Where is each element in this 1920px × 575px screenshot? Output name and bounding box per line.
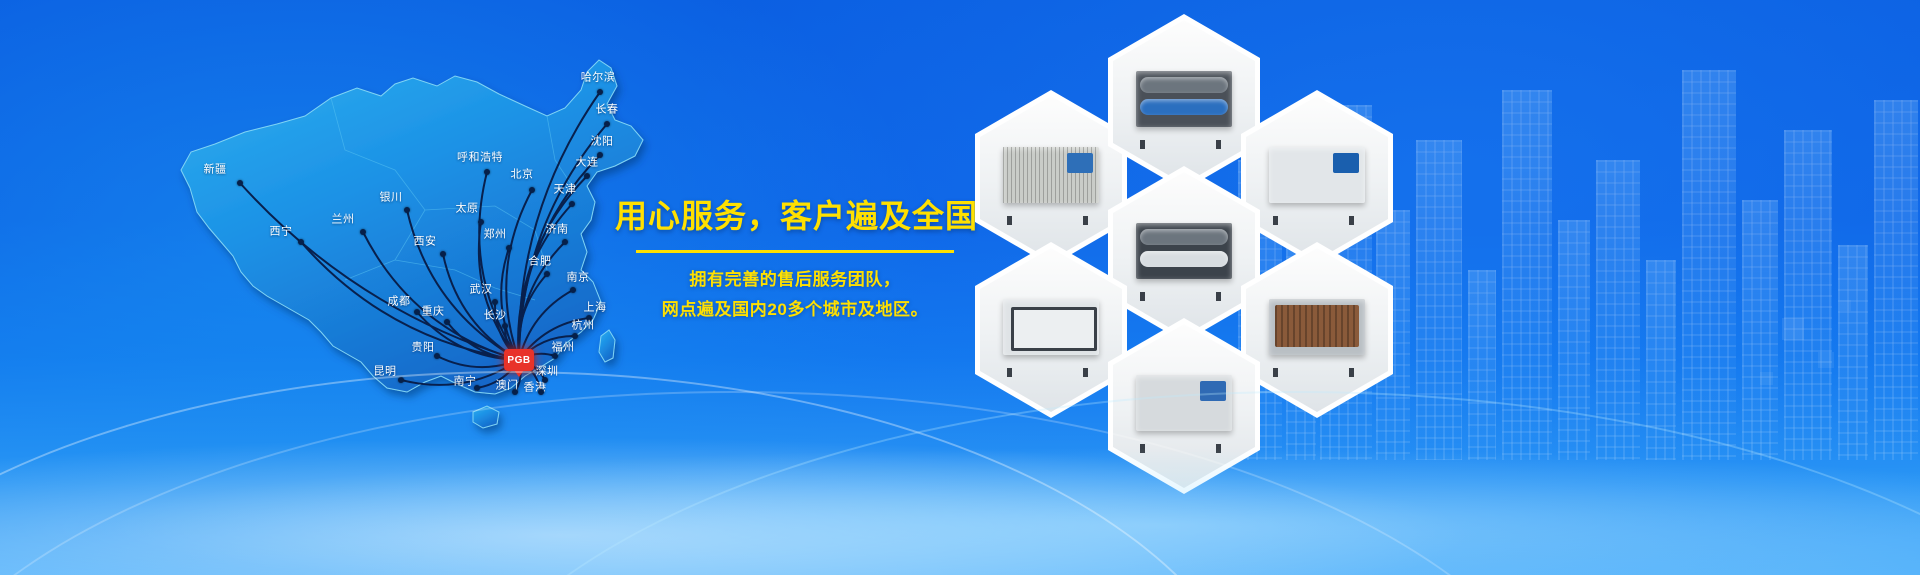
city-label-23: 重庆 [422, 307, 445, 318]
city-dot-13 [506, 245, 512, 251]
city-dot-0 [237, 180, 243, 186]
decor-square [1782, 318, 1804, 340]
city-label-13: 郑州 [484, 230, 507, 241]
city-dot-12 [440, 251, 446, 257]
city-label-15: 合肥 [529, 257, 552, 268]
headline-divider [636, 250, 954, 253]
product-photo-open-frame-chiller [980, 248, 1122, 412]
city-label-9: 沈阳 [591, 137, 614, 148]
machine-leg [1273, 368, 1278, 377]
machine-illustration [1263, 291, 1371, 369]
city-label-14: 济南 [546, 225, 569, 236]
city-label-18: 杭州 [572, 321, 595, 332]
product-hex-air-cooled-box-chiller[interactable] [975, 90, 1127, 266]
product-photo-condenser-coil-unit [1246, 248, 1388, 412]
city-label-1: 西宁 [270, 227, 293, 238]
product-hex-industrial-air-chiller[interactable] [1241, 90, 1393, 266]
city-dot-8 [604, 121, 610, 127]
skyline-building [1874, 100, 1918, 460]
machine-leg [1216, 140, 1221, 149]
product-photo-industrial-air-chiller [1246, 96, 1388, 260]
machine-leg [1083, 368, 1088, 377]
city-dot-16 [570, 287, 576, 293]
machine-leg [1140, 444, 1145, 453]
city-label-26: 南宁 [454, 377, 477, 388]
city-label-5: 北京 [511, 170, 534, 181]
product-hex-water-cooled-screw-chiller[interactable] [1108, 14, 1260, 190]
city-dot-28 [538, 389, 544, 395]
city-label-17: 上海 [584, 303, 607, 314]
city-dot-6 [569, 201, 575, 207]
city-label-21: 福州 [552, 343, 575, 354]
product-photo-air-cooled-box-chiller [980, 96, 1122, 260]
banner-subtitle-line1: 拥有完善的售后服务团队， [615, 265, 975, 295]
city-label-4: 呼和浩特 [457, 153, 503, 164]
city-label-10: 大连 [576, 158, 599, 169]
machine-illustration [997, 291, 1105, 369]
hub-marker-pgb[interactable]: PGB [504, 349, 534, 371]
decor-square [1760, 372, 1773, 385]
banner-copy: 用心服务，客户遍及全国 拥有完善的售后服务团队， 网点遍及国内20多个城市及地区… [615, 196, 975, 325]
city-dot-26 [474, 385, 480, 391]
city-label-16: 南京 [567, 273, 590, 284]
banner-subtitle-line2: 网点遍及国内20多个城市及地区。 [615, 295, 975, 325]
skyline-building [1742, 200, 1778, 460]
city-label-20: 长沙 [484, 311, 507, 322]
machine-leg [1007, 216, 1012, 225]
machine-illustration [1130, 215, 1238, 293]
city-label-6: 天津 [554, 185, 577, 196]
city-label-8: 长春 [596, 105, 619, 116]
map-landmass [181, 60, 643, 428]
skyline-building [1682, 70, 1736, 460]
machine-leg [1140, 292, 1145, 301]
city-label-29: 深圳 [536, 367, 559, 378]
city-dot-24 [434, 353, 440, 359]
city-dot-10 [584, 173, 590, 179]
skyline-building [1784, 130, 1832, 460]
machine-leg [1349, 368, 1354, 377]
city-label-25: 昆明 [374, 367, 397, 378]
machine-illustration [1263, 139, 1371, 217]
skyline-building [1596, 160, 1640, 460]
skyline-building [1646, 260, 1676, 460]
city-dot-5 [529, 187, 535, 193]
machine-illustration [997, 139, 1105, 217]
product-hex-cabinet-water-chiller[interactable] [1108, 318, 1260, 494]
city-dot-1 [298, 239, 304, 245]
city-dot-25 [398, 377, 404, 383]
city-dot-29 [542, 377, 548, 383]
skyline-building [1838, 245, 1868, 460]
city-dot-15 [544, 271, 550, 277]
city-dot-14 [562, 239, 568, 245]
city-label-3: 银川 [380, 193, 403, 204]
decor-square [1818, 352, 1834, 368]
machine-leg [1349, 216, 1354, 225]
city-dot-21 [552, 353, 558, 359]
city-dot-4 [484, 169, 490, 175]
machine-leg [1273, 216, 1278, 225]
product-hex-screw-compressor-unit[interactable] [1108, 166, 1260, 342]
city-dot-3 [404, 207, 410, 213]
city-label-11: 太原 [456, 204, 479, 215]
city-label-24: 贵阳 [412, 343, 435, 354]
product-hex-grid [975, 0, 1535, 460]
machine-leg [1007, 368, 1012, 377]
city-dot-2 [360, 229, 366, 235]
city-label-0: 新疆 [204, 165, 227, 176]
machine-leg [1216, 292, 1221, 301]
city-label-22: 成都 [388, 297, 411, 308]
product-hex-open-frame-chiller[interactable] [975, 242, 1127, 418]
city-dot-22 [414, 309, 420, 315]
city-label-2: 兰州 [332, 215, 355, 226]
city-dot-18 [572, 333, 578, 339]
skyline-building [1558, 220, 1590, 460]
city-label-19: 武汉 [470, 285, 493, 296]
product-hex-condenser-coil-unit[interactable] [1241, 242, 1393, 418]
machine-leg [1216, 444, 1221, 453]
product-photo-screw-compressor-unit [1113, 172, 1255, 336]
product-photo-water-cooled-screw-chiller [1113, 20, 1255, 184]
machine-leg [1140, 140, 1145, 149]
machine-illustration [1130, 367, 1238, 445]
machine-illustration [1130, 63, 1238, 141]
city-dot-11 [478, 219, 484, 225]
city-dot-23 [444, 319, 450, 325]
machine-leg [1083, 216, 1088, 225]
city-dot-19 [492, 299, 498, 305]
decor-square [1840, 300, 1851, 311]
city-dot-7 [597, 89, 603, 95]
banner-headline: 用心服务，客户遍及全国 [615, 196, 975, 236]
promo-banner: 新疆西宁兰州银川呼和浩特北京天津哈尔滨长春沈阳大连太原西安郑州济南合肥南京上海杭… [0, 0, 1920, 575]
city-dot-20 [502, 323, 508, 329]
city-label-7: 哈尔滨 [581, 73, 616, 84]
product-photo-cabinet-water-chiller [1113, 324, 1255, 488]
city-dot-27 [512, 389, 518, 395]
city-label-12: 西安 [414, 237, 437, 248]
